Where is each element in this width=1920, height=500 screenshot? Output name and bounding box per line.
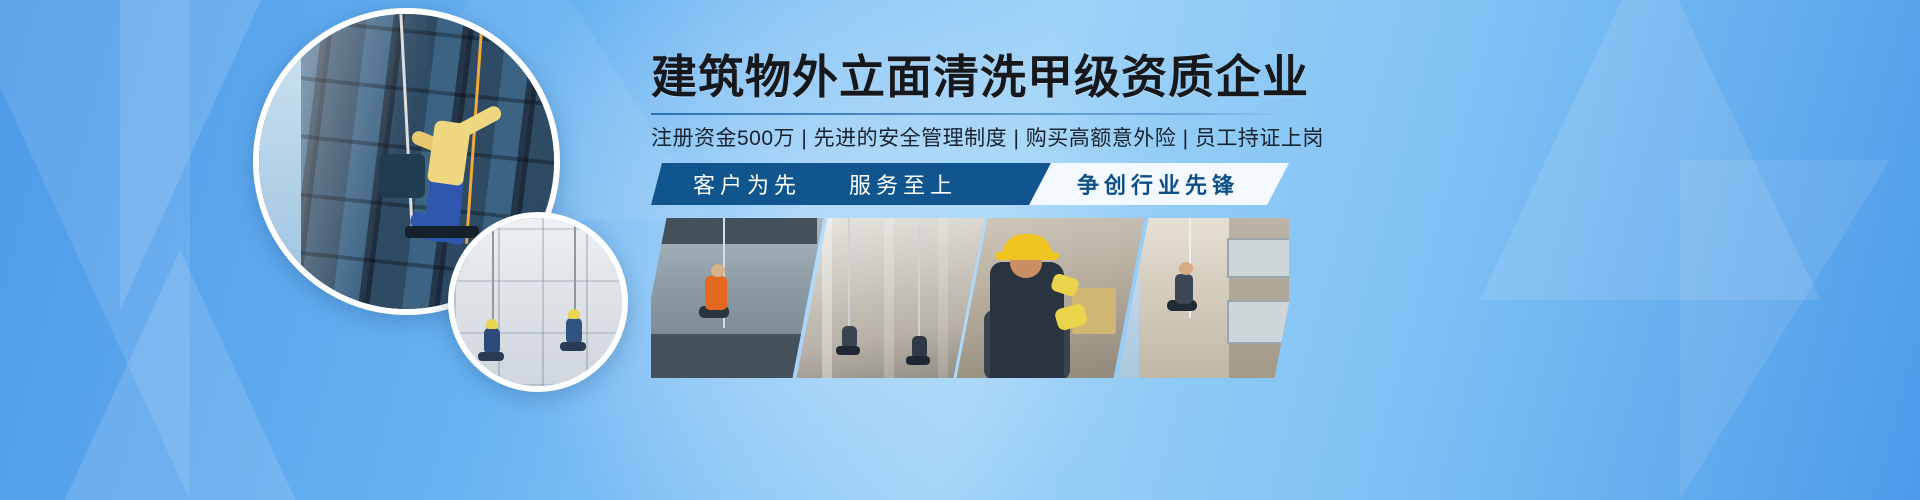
photo-strip [651, 218, 1289, 378]
slogan-primary-2: 服务至上 [849, 168, 957, 200]
slogan-primary-1: 客户为先 [693, 168, 801, 200]
strip2-worker-left-legs [836, 346, 860, 355]
small-worker-left-legs [478, 352, 504, 361]
strip-photo-2-image [796, 218, 984, 378]
strip2-worker-right-legs [906, 356, 930, 365]
balcony-upper [1227, 238, 1290, 278]
wall-band-bottom [651, 334, 817, 378]
background-triangle-5 [1680, 160, 1890, 500]
strip-photo-1 [651, 218, 823, 378]
slogan-ribbon-light: 争创行业先锋 [1029, 163, 1289, 205]
strip-photo-3-image [956, 218, 1144, 378]
wet-streak-1 [822, 218, 832, 378]
sky-edge [259, 14, 301, 309]
small-worker-left-torso [484, 328, 500, 354]
slogan-ribbon: 客户为先 服务至上 争创行业先锋 [651, 163, 1289, 205]
strip1-worker-head [711, 264, 725, 277]
wall-band-top [651, 218, 817, 244]
strip2-rope-right [918, 226, 920, 346]
promotional-banner: 建筑物外立面清洗甲级资质企业 注册资金500万 | 先进的安全管理制度 | 购买… [0, 0, 1920, 500]
small-worker-right-torso [566, 318, 582, 344]
strip-photo-4 [1117, 218, 1289, 378]
slogan-highlight: 争创行业先锋 [1077, 168, 1239, 200]
strip-photo-4-image [1117, 218, 1289, 378]
headline-divider [651, 113, 1289, 115]
wet-streak-2 [884, 218, 894, 378]
strip-photo-1-image [651, 218, 823, 378]
strip-photo-2 [796, 218, 984, 378]
grey-facade-image [454, 218, 622, 386]
strip4-worker-head [1179, 262, 1193, 275]
small-worker-left-helmet [486, 319, 498, 329]
banner-subline: 注册资金500万 | 先进的安全管理制度 | 购买高额意外险 | 员工持证上岗 [651, 122, 1291, 152]
banner-headline: 建筑物外立面清洗甲级资质企业 [651, 49, 1291, 105]
strip-photo-3 [956, 218, 1144, 378]
strip2-rope-left [848, 218, 850, 336]
balcony-lower [1227, 300, 1290, 344]
strip3-yellow-helmet [1002, 234, 1052, 260]
strip1-worker-vest [705, 276, 727, 310]
small-worker-right-legs [560, 342, 586, 351]
strip4-worker-torso [1175, 274, 1193, 304]
small-worker-right-helmet [568, 309, 580, 319]
slogan-ribbon-dark: 客户为先 服务至上 [651, 163, 1069, 205]
circle-photo-grey-facade [448, 212, 628, 392]
wet-streak-3 [938, 218, 948, 378]
water-bucket [379, 154, 425, 198]
